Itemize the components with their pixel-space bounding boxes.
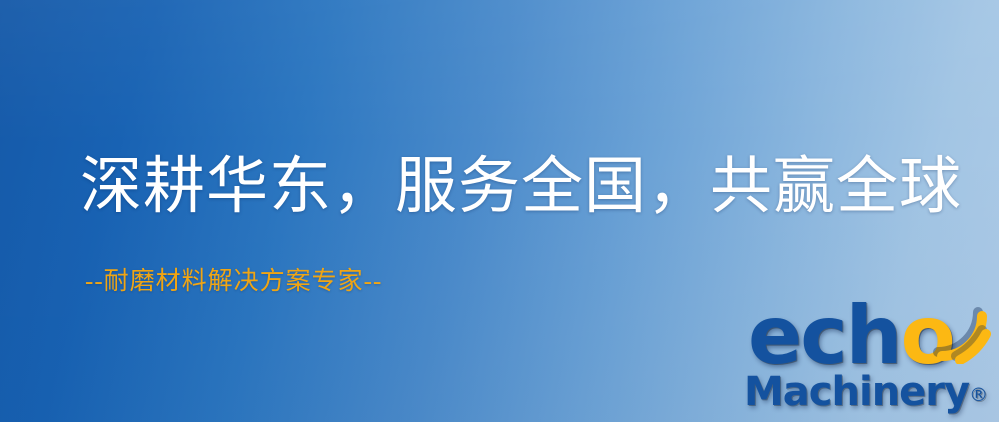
registered-trademark-icon: ® [969,384,988,406]
echo-machinery-logo[interactable]: echo Machinery® [742,296,999,422]
logo-sub-wordmark: Machinery® [744,370,988,417]
logo-company-name: Machinery [744,369,969,415]
wifi-arcs-icon [920,294,996,364]
banner-headline: 深耕华东，服务全国，共赢全球 [80,152,962,222]
promo-banner: 深耕华东，服务全国，共赢全球 --耐磨材料解决方案专家-- echo Machi… [0,0,999,422]
banner-subtitle: --耐磨材料解决方案专家-- [85,267,382,297]
